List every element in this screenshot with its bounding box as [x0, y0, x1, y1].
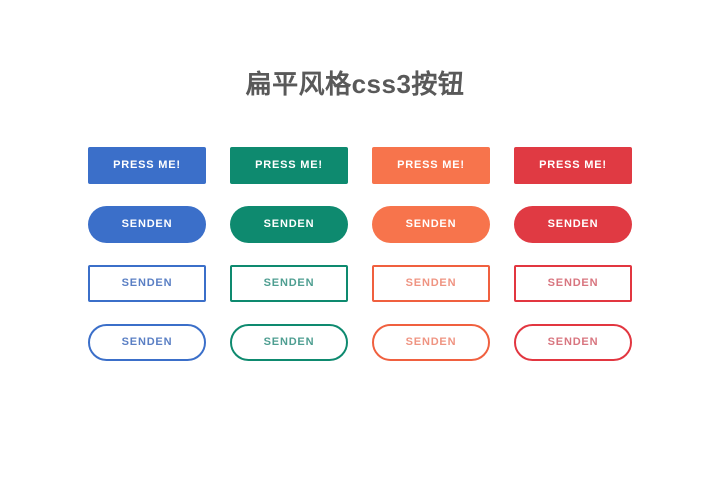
button-cell: SENDEN	[88, 206, 206, 243]
button-cell: PRESS ME!	[88, 147, 206, 184]
button-cell: SENDEN	[372, 265, 490, 302]
row-outline-square: SENDENSENDENSENDENSENDEN	[88, 265, 632, 302]
button-green-solid-pill[interactable]: SENDEN	[230, 206, 348, 243]
button-cell: SENDEN	[514, 206, 632, 243]
button-blue-solid-pill[interactable]: SENDEN	[88, 206, 206, 243]
button-blue-outline-square[interactable]: SENDEN	[88, 265, 206, 302]
button-cell: SENDEN	[514, 324, 632, 361]
button-orange-outline-square[interactable]: SENDEN	[372, 265, 490, 302]
button-cell: PRESS ME!	[230, 147, 348, 184]
button-cell: SENDEN	[514, 265, 632, 302]
button-red-solid-pill[interactable]: SENDEN	[514, 206, 632, 243]
page-title: 扁平风格css3按钮	[0, 67, 710, 101]
button-red-outline-pill[interactable]: SENDEN	[514, 324, 632, 361]
button-cell: SENDEN	[372, 206, 490, 243]
button-cell: PRESS ME!	[514, 147, 632, 184]
button-cell: SENDEN	[88, 324, 206, 361]
button-cell: SENDEN	[372, 324, 490, 361]
button-grid: PRESS ME!PRESS ME!PRESS ME!PRESS ME!SEND…	[88, 147, 632, 361]
button-blue-solid-square[interactable]: PRESS ME!	[88, 147, 206, 184]
button-cell: SENDEN	[230, 265, 348, 302]
button-cell: SENDEN	[230, 206, 348, 243]
button-orange-outline-pill[interactable]: SENDEN	[372, 324, 490, 361]
button-red-outline-square[interactable]: SENDEN	[514, 265, 632, 302]
button-orange-solid-square[interactable]: PRESS ME!	[372, 147, 490, 184]
button-green-outline-square[interactable]: SENDEN	[230, 265, 348, 302]
button-orange-solid-pill[interactable]: SENDEN	[372, 206, 490, 243]
button-green-outline-pill[interactable]: SENDEN	[230, 324, 348, 361]
button-cell: SENDEN	[88, 265, 206, 302]
button-cell: PRESS ME!	[372, 147, 490, 184]
button-blue-outline-pill[interactable]: SENDEN	[88, 324, 206, 361]
button-cell: SENDEN	[230, 324, 348, 361]
row-outline-pill: SENDENSENDENSENDENSENDEN	[88, 324, 632, 361]
row-solid-square: PRESS ME!PRESS ME!PRESS ME!PRESS ME!	[88, 147, 632, 184]
row-solid-pill: SENDENSENDENSENDENSENDEN	[88, 206, 632, 243]
button-green-solid-square[interactable]: PRESS ME!	[230, 147, 348, 184]
button-red-solid-square[interactable]: PRESS ME!	[514, 147, 632, 184]
